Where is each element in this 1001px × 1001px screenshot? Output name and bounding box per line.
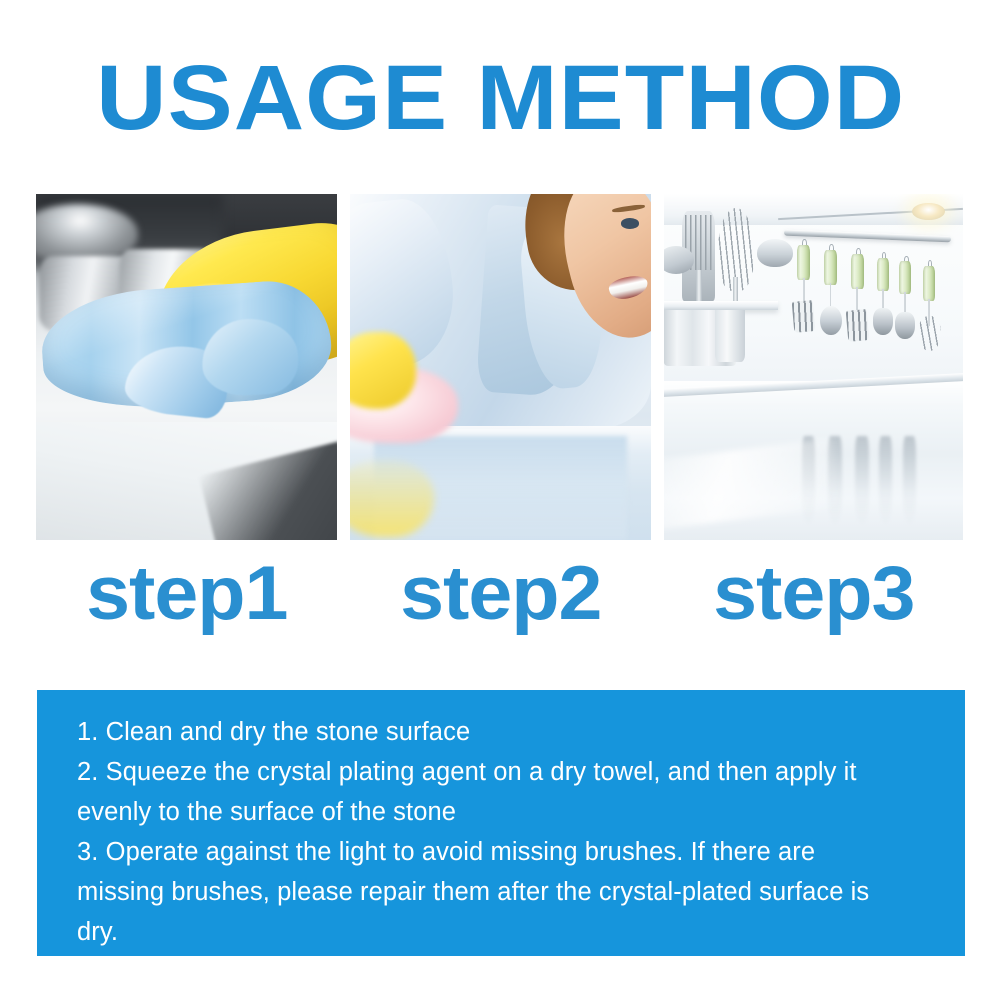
- ladle-head: [820, 306, 842, 335]
- glove-reflection: [350, 460, 434, 536]
- utensil-reflection-4: [879, 436, 892, 526]
- photo-step2-polishing-surface: [350, 194, 651, 540]
- utensil-reflection-5: [903, 436, 916, 526]
- infographic-page: USAGE METHOD: [0, 0, 1001, 1001]
- page-title: USAGE METHOD: [0, 46, 1001, 150]
- page-title-text: USAGE METHOD: [96, 52, 905, 144]
- green-handle: [824, 250, 836, 285]
- green-handle: [923, 266, 935, 301]
- eye: [621, 218, 639, 228]
- instruction-line-2: 2. Squeeze the crystal plating agent on …: [77, 752, 925, 792]
- hanging-whisk: [921, 260, 937, 364]
- hanging-ladle: [822, 244, 838, 348]
- shelf-scoop: [664, 246, 694, 274]
- instruction-line-5: missing brushes, please repair them afte…: [77, 872, 925, 912]
- green-handle: [899, 261, 911, 294]
- spatula-head: [792, 300, 815, 333]
- instruction-line-1: 1. Clean and dry the stone surface: [77, 712, 925, 752]
- spatula-head: [846, 309, 869, 342]
- instruction-line-3: evenly to the surface of the stone: [77, 792, 925, 832]
- photo-step1-wiping-counter: [36, 194, 337, 540]
- shelf-ladle: [757, 239, 793, 267]
- tongs-head: [873, 308, 893, 335]
- whisk-head: [918, 316, 941, 351]
- step-label-2: step2: [400, 556, 601, 632]
- green-handle: [797, 245, 809, 280]
- utensil-reflection-3: [855, 436, 868, 526]
- utensil-holder-secondary: [715, 310, 745, 362]
- wall-shelf: [664, 301, 778, 310]
- step-cell-3: step3: [664, 548, 963, 640]
- step-photo-row: [36, 194, 965, 540]
- step-label-1: step1: [86, 556, 287, 632]
- hanging-tongs: [875, 252, 891, 349]
- hanging-spatula-1: [796, 239, 812, 343]
- instructions-panel: 1. Clean and dry the stone surface 2. Sq…: [37, 690, 965, 956]
- step-label-row: step1 step2 step3: [36, 548, 965, 640]
- masher-head: [895, 312, 915, 339]
- yellow-glove: [350, 332, 416, 408]
- instruction-line-4: 3. Operate against the light to avoid mi…: [77, 832, 925, 872]
- step-label-3: step3: [713, 556, 914, 632]
- green-handle: [877, 258, 889, 291]
- green-handle: [851, 254, 863, 289]
- photo-step3-finished-kitchen: [664, 194, 963, 540]
- hanging-spatula-2: [849, 248, 865, 352]
- instruction-line-6: dry.: [77, 912, 925, 952]
- hanging-masher: [897, 256, 913, 353]
- step-cell-2: step2: [350, 548, 651, 640]
- step-cell-1: step1: [36, 548, 337, 640]
